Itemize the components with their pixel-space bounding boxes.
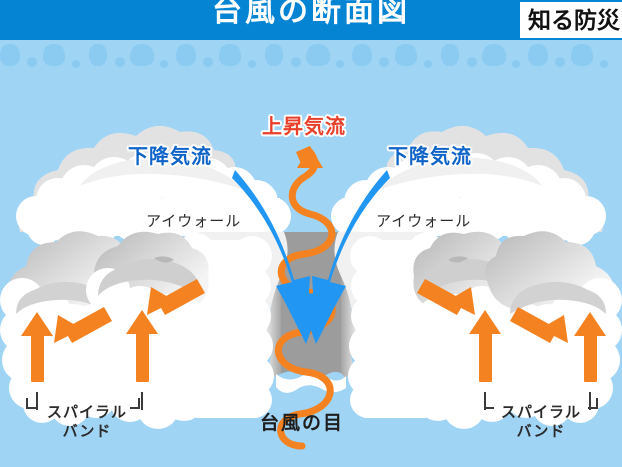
label-downdraft-left: 下降気流	[128, 140, 212, 169]
brand-badge[interactable]: 知る防災	[520, 2, 622, 38]
typhoon-cross-section-infographic: 上昇気流 下降気流 下降気流 アイウォール アイウォール 台風の目 スパイラル …	[0, 0, 622, 467]
label-spiral-band-left-line1: スパイラル	[47, 404, 127, 421]
typhoon-diagram-svg	[0, 0, 622, 467]
label-updraft: 上昇気流	[262, 110, 346, 139]
label-spiral-band-right: スパイラル バンド	[482, 403, 600, 441]
label-eyewall-right: アイウォール	[376, 210, 471, 231]
updraft-arrowhead	[296, 146, 323, 168]
brand-badge-label: 知る防災	[528, 3, 620, 37]
label-eyewall-left: アイウォール	[146, 210, 241, 231]
label-spiral-band-left: スパイラル バンド	[28, 403, 146, 441]
label-spiral-band-left-line2: バンド	[28, 422, 146, 441]
label-spiral-band-right-line1: スパイラル	[501, 404, 581, 421]
diagram-canvas	[0, 0, 622, 467]
label-typhoon-eye: 台風の目	[260, 408, 344, 435]
label-downdraft-right: 下降気流	[388, 140, 472, 169]
label-spiral-band-right-line2: バンド	[482, 422, 600, 441]
